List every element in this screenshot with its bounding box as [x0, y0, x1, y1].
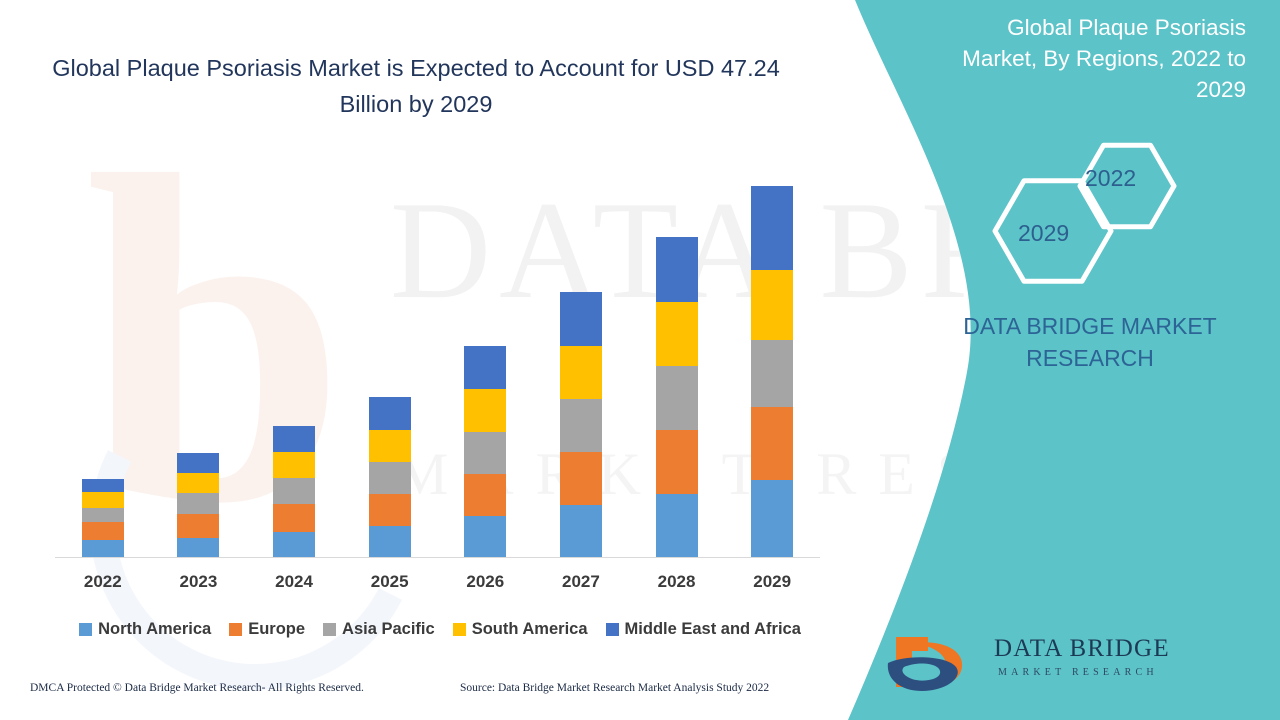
- footer-source: Source: Data Bridge Market Research Mark…: [460, 682, 769, 694]
- bar-segment[interactable]: [560, 452, 602, 505]
- bar-segment[interactable]: [560, 399, 602, 452]
- bar-segment[interactable]: [369, 526, 411, 558]
- bar-segment[interactable]: [656, 302, 698, 366]
- hexagon-2022-label: 2022: [1085, 165, 1136, 192]
- data-bridge-logo: DATA BRIDGE MARKET RESEARCH: [882, 627, 1212, 697]
- bar-segment[interactable]: [560, 292, 602, 346]
- x-axis-label-2028: 2028: [629, 572, 725, 592]
- logo-text-sub: MARKET RESEARCH: [998, 667, 1158, 678]
- bar-segment[interactable]: [464, 389, 506, 432]
- bar-segment[interactable]: [656, 494, 698, 558]
- x-axis-labels: 20222023202420252026202720282029: [55, 572, 820, 602]
- chart-legend: North AmericaEuropeAsia PacificSouth Ame…: [55, 615, 825, 643]
- legend-swatch-icon: [606, 623, 619, 636]
- bar-column-2024[interactable]: [273, 426, 315, 558]
- bar-segment[interactable]: [751, 340, 793, 407]
- bar-segment[interactable]: [273, 426, 315, 452]
- bar-segment[interactable]: [751, 480, 793, 558]
- legend-item-asia-pacific[interactable]: Asia Pacific: [323, 620, 435, 639]
- x-axis-label-2029: 2029: [724, 572, 820, 592]
- bar-segment[interactable]: [177, 493, 219, 514]
- bar-segment[interactable]: [177, 538, 219, 558]
- hexagon-2029-label: 2029: [1018, 220, 1069, 247]
- bar-column-2026[interactable]: [464, 346, 506, 558]
- legend-label: North America: [98, 620, 211, 639]
- x-axis-label-2023: 2023: [150, 572, 246, 592]
- x-axis-label-2022: 2022: [55, 572, 151, 592]
- bar-segment[interactable]: [369, 494, 411, 526]
- logo-mark-icon: [882, 629, 987, 695]
- brand-name: DATA BRIDGE MARKET RESEARCH: [940, 310, 1240, 374]
- x-axis-label-2025: 2025: [342, 572, 438, 592]
- bar-segment[interactable]: [464, 474, 506, 516]
- bar-segment[interactable]: [177, 453, 219, 473]
- x-axis-line: [55, 557, 820, 558]
- bar-segment[interactable]: [751, 270, 793, 340]
- bar-column-2028[interactable]: [656, 237, 698, 558]
- bar-segment[interactable]: [273, 504, 315, 532]
- bar-column-2025[interactable]: [369, 397, 411, 558]
- bar-segment[interactable]: [751, 407, 793, 480]
- bar-segment[interactable]: [369, 430, 411, 462]
- bar-column-2029[interactable]: [751, 186, 793, 558]
- legend-item-middle-east-and-africa[interactable]: Middle East and Africa: [606, 620, 801, 639]
- legend-item-europe[interactable]: Europe: [229, 620, 305, 639]
- x-axis-label-2024: 2024: [246, 572, 342, 592]
- bar-segment[interactable]: [560, 346, 602, 399]
- chart-area: Global Plaque Psoriasis Market is Expect…: [0, 0, 860, 720]
- legend-item-south-america[interactable]: South America: [453, 620, 588, 639]
- bar-segment[interactable]: [656, 366, 698, 430]
- bar-segment[interactable]: [464, 432, 506, 474]
- legend-swatch-icon: [79, 623, 92, 636]
- bar-segment[interactable]: [273, 532, 315, 558]
- right-info-panel: Global Plaque Psoriasis Market, By Regio…: [840, 0, 1280, 720]
- bar-segment[interactable]: [82, 508, 124, 522]
- bar-segment[interactable]: [560, 505, 602, 558]
- bar-segment[interactable]: [82, 540, 124, 558]
- legend-label: Asia Pacific: [342, 620, 435, 639]
- bar-segment[interactable]: [273, 478, 315, 504]
- legend-label: South America: [472, 620, 588, 639]
- footer: DMCA Protected © Data Bridge Market Rese…: [0, 682, 860, 706]
- bar-segment[interactable]: [464, 346, 506, 389]
- logo-text-main: DATA BRIDGE: [994, 635, 1170, 663]
- legend-swatch-icon: [453, 623, 466, 636]
- legend-label: Europe: [248, 620, 305, 639]
- bar-segment[interactable]: [751, 186, 793, 270]
- legend-swatch-icon: [229, 623, 242, 636]
- bar-segment[interactable]: [82, 522, 124, 540]
- bar-chart-plot: [55, 170, 820, 558]
- bar-segment[interactable]: [177, 473, 219, 493]
- legend-label: Middle East and Africa: [625, 620, 801, 639]
- bar-segment[interactable]: [369, 462, 411, 494]
- bar-column-2023[interactable]: [177, 453, 219, 558]
- bar-segment[interactable]: [273, 452, 315, 478]
- x-axis-label-2027: 2027: [533, 572, 629, 592]
- bar-segment[interactable]: [82, 479, 124, 492]
- bar-segment[interactable]: [82, 492, 124, 508]
- bar-column-2022[interactable]: [82, 479, 124, 558]
- bar-column-2027[interactable]: [560, 292, 602, 558]
- bar-segment[interactable]: [464, 516, 506, 558]
- legend-item-north-america[interactable]: North America: [79, 620, 211, 639]
- bar-segment[interactable]: [369, 397, 411, 430]
- legend-swatch-icon: [323, 623, 336, 636]
- x-axis-label-2026: 2026: [437, 572, 533, 592]
- bar-segment[interactable]: [177, 514, 219, 538]
- page-title: Global Plaque Psoriasis Market is Expect…: [46, 50, 786, 122]
- bar-segment[interactable]: [656, 237, 698, 302]
- footer-copyright: DMCA Protected © Data Bridge Market Rese…: [30, 682, 364, 694]
- bar-segment[interactable]: [656, 430, 698, 494]
